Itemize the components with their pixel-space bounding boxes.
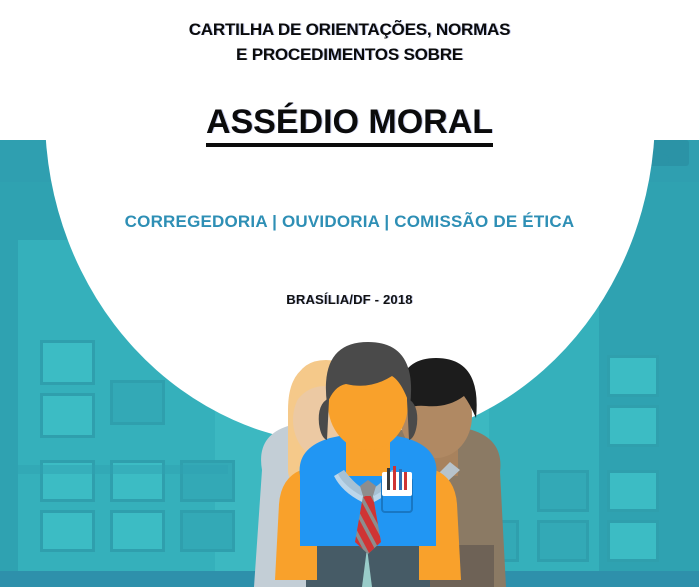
window [537, 470, 589, 512]
place-and-year: BRASÍLIA/DF - 2018 [0, 232, 699, 307]
kicker-line-1: CARTILHA DE ORIENTAÇÕES, NORMAS [0, 18, 699, 43]
window [110, 510, 165, 552]
organizations-line: CORREGEDORIA | OUVIDORIA | COMISSÃO DE É… [0, 142, 699, 232]
cover-text: CARTILHA DE ORIENTAÇÕES, NORMAS E PROCED… [0, 0, 699, 307]
window [607, 355, 659, 397]
window [180, 510, 235, 552]
window [607, 470, 659, 512]
window [607, 520, 659, 562]
main-title-text: ASSÉDIO MORAL [206, 103, 493, 147]
cover-kicker: CARTILHA DE ORIENTAÇÕES, NORMAS E PROCED… [0, 0, 699, 67]
window [40, 510, 95, 552]
window [607, 405, 659, 447]
kicker-line-2: E PROCEDIMENTOS SOBRE [0, 43, 699, 68]
window [40, 393, 95, 438]
window [467, 520, 519, 562]
ground-strip [0, 571, 699, 587]
window [40, 340, 95, 385]
cover-page: CARTILHA DE ORIENTAÇÕES, NORMAS E PROCED… [0, 0, 699, 587]
window [110, 380, 165, 425]
page-title: ASSÉDIO MORAL [0, 67, 699, 142]
window [537, 520, 589, 562]
building-ledge-left [18, 465, 228, 474]
